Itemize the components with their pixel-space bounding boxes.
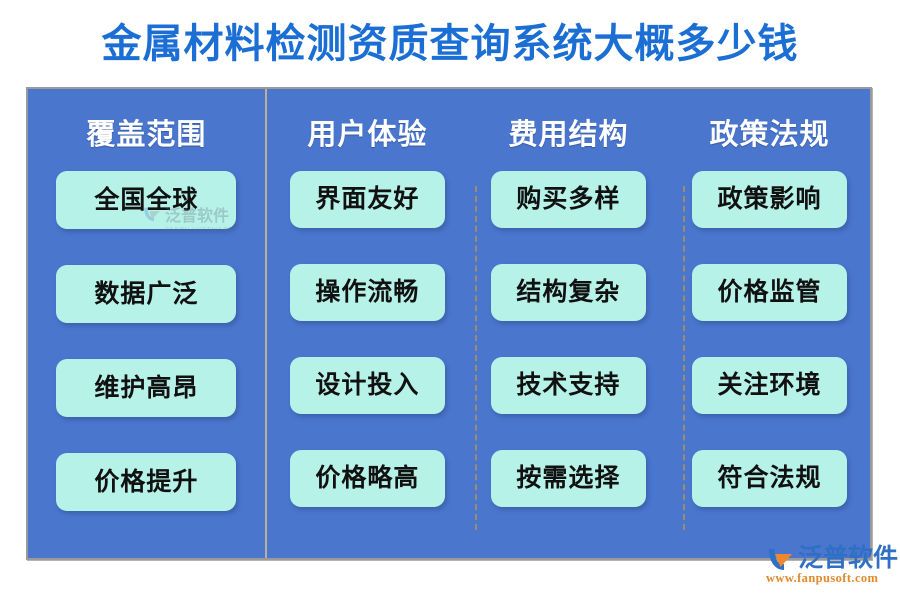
pill-item[interactable]: 界面友好 — [290, 171, 445, 228]
pill-item[interactable]: 数据广泛 — [56, 265, 236, 323]
column-divider-dashed — [475, 186, 477, 530]
pill-item[interactable]: 全国全球 — [56, 171, 236, 229]
pill-item[interactable]: 技术支持 — [491, 357, 646, 414]
column-header: 费用结构 — [508, 116, 628, 154]
pill-list: 界面友好 操作流畅 设计投入 价格略高 — [290, 171, 445, 507]
pill-item[interactable]: 政策影响 — [692, 171, 847, 228]
fanpu-logo: 泛普软件 www.fanpusoft.com — [766, 546, 898, 586]
logo-row: 泛普软件 — [766, 546, 898, 572]
fanpu-logo-icon — [766, 546, 794, 572]
pill-item[interactable]: 按需选择 — [491, 450, 646, 507]
column-divider-dashed — [683, 186, 685, 530]
pill-item[interactable]: 维护高昂 — [56, 359, 236, 417]
page-title: 金属材料检测资质查询系统大概多少钱 — [0, 18, 900, 70]
pill-item[interactable]: 价格提升 — [56, 453, 236, 511]
pill-item[interactable]: 价格略高 — [290, 450, 445, 507]
pill-list: 政策影响 价格监管 关注环境 符合法规 — [692, 171, 847, 507]
pill-item[interactable]: 设计投入 — [290, 357, 445, 414]
column-header: 覆盖范围 — [86, 116, 206, 154]
pill-item[interactable]: 符合法规 — [692, 450, 847, 507]
column-header: 政策法规 — [709, 116, 829, 154]
comparison-panel: 覆盖范围 全国全球 数据广泛 维护高昂 价格提升 用户体验 界面友好 操作流畅 … — [26, 87, 872, 560]
column-user-experience: 用户体验 界面友好 操作流畅 设计投入 价格略高 — [267, 89, 468, 558]
pill-item[interactable]: 操作流畅 — [290, 264, 445, 321]
pill-item[interactable]: 关注环境 — [692, 357, 847, 414]
pill-item[interactable]: 结构复杂 — [491, 264, 646, 321]
column-header: 用户体验 — [307, 116, 427, 154]
pill-item[interactable]: 价格监管 — [692, 264, 847, 321]
pill-list: 购买多样 结构复杂 技术支持 按需选择 — [491, 171, 646, 507]
column-coverage: 覆盖范围 全国全球 数据广泛 维护高昂 价格提升 — [28, 89, 267, 558]
pill-list: 全国全球 数据广泛 维护高昂 价格提升 — [56, 171, 236, 511]
column-policy-regulation: 政策法规 政策影响 价格监管 关注环境 符合法规 — [669, 89, 870, 558]
column-cost-structure: 费用结构 购买多样 结构复杂 技术支持 按需选择 — [468, 89, 669, 558]
pill-item[interactable]: 购买多样 — [491, 171, 646, 228]
logo-url: www.fanpusoft.com — [766, 571, 878, 586]
logo-brand: 泛普软件 — [798, 546, 898, 572]
